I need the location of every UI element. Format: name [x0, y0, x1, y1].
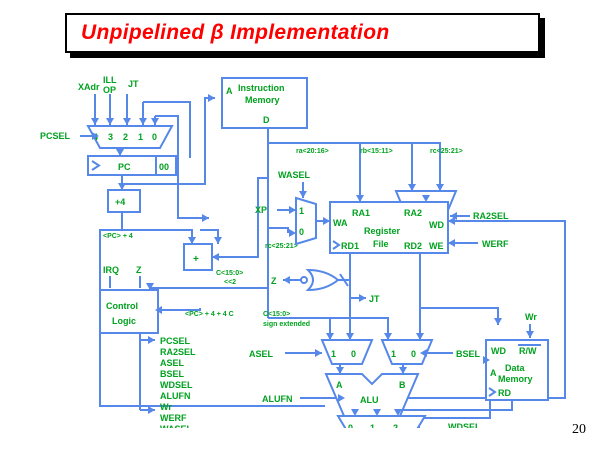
alu-label: ALU: [360, 395, 379, 405]
asel-label: ASEL: [249, 349, 274, 359]
pc-register: PC 00: [88, 156, 176, 175]
jt-label: JT: [369, 294, 380, 304]
rb-field-label: rb<15:11>: [360, 148, 393, 155]
dmem-port-rd: RD: [498, 388, 511, 398]
wasel-mux[interactable]: 1 0: [296, 198, 316, 244]
control-output-pcsel: PCSEL: [160, 336, 191, 346]
dmem-label-line2: Memory: [498, 374, 533, 384]
control-logic-label-line1: Control: [106, 301, 138, 311]
imem-port-a: A: [226, 86, 233, 96]
illop-label-line2: OP: [103, 85, 116, 95]
alu-port-a: A: [336, 380, 343, 390]
regfile-port-rd1: RD1: [341, 241, 359, 251]
control-output-bsel: BSEL: [160, 369, 185, 379]
pc-plus-4-label: <PC> + 4: [103, 233, 133, 240]
pcsel-label: PCSEL: [40, 131, 71, 141]
imem-label-line1: Instruction: [238, 83, 285, 93]
rc-field-mid-label: rc<25:21>: [265, 243, 298, 250]
ra2sel-label: RA2SEL: [473, 211, 509, 221]
xp-label: XP: [255, 205, 267, 215]
plus4-adder: +4: [108, 190, 140, 212]
register-file: WA RA1 RA2 WD RD1 RD2 WE Register File: [330, 202, 448, 253]
page-number: 20: [572, 422, 586, 438]
slide-title: Unpipelined β Implementation: [67, 21, 389, 45]
slide-canvas: Unpipelined β Implementation: [0, 0, 600, 450]
jt-top-label: JT: [128, 79, 139, 89]
dmem-port-rw: R/W: [519, 346, 537, 356]
irq-label: IRQ: [103, 265, 119, 275]
regfile-port-wd: WD: [429, 220, 444, 230]
control-logic: Control Logic: [100, 290, 158, 333]
control-output-werf: WERF: [160, 413, 187, 423]
pc-plus-4-4c-label: <PC> + 4 + 4 C: [185, 311, 234, 318]
c-sign-label-line2: sign extended: [263, 321, 310, 328]
dmem-port-a: A: [490, 368, 497, 378]
control-logic-label-line2: Logic: [112, 316, 136, 326]
rc-field-top-label: rc<25:21>: [430, 148, 463, 155]
werf-label: WERF: [482, 239, 509, 249]
c-shift-label-line2: <<2: [224, 279, 236, 286]
alufn-label: ALUFN: [262, 394, 293, 404]
c-shift-label-line1: C<15:0>: [216, 270, 243, 277]
asel-input-0: 0: [351, 349, 356, 359]
asel-input-1: 1: [331, 349, 336, 359]
alu-port-b: B: [399, 380, 406, 390]
pcsel-input-1: 1: [138, 132, 143, 142]
control-output-wasel: WASEL: [160, 424, 193, 428]
pc-label: PC: [118, 162, 131, 172]
pcsel-input-3: 3: [108, 132, 113, 142]
pcsel-input-0: 0: [152, 132, 157, 142]
wasel-input-0: 0: [299, 227, 304, 237]
ra-field-label: ra<20:16>: [296, 148, 329, 155]
z-input-label: Z: [136, 265, 142, 275]
regfile-port-ra2: RA2: [404, 208, 422, 218]
bsel-input-0: 0: [411, 349, 416, 359]
bsel-input-1: 1: [391, 349, 396, 359]
wasel-label: WASEL: [278, 170, 311, 180]
wdsel-label: WDSEL: [448, 422, 481, 428]
plus-label: +: [193, 254, 199, 265]
pcsel-mux[interactable]: 4 3 2 1 0: [88, 126, 172, 148]
control-output-alufn: ALUFN: [160, 391, 191, 401]
instruction-memory: A Instruction Memory D: [222, 78, 307, 128]
pc-low-bits: 00: [159, 162, 169, 172]
bsel-label: BSEL: [456, 349, 481, 359]
imem-port-d: D: [263, 115, 270, 125]
wr-label: Wr: [525, 312, 537, 322]
regfile-port-we: WE: [429, 241, 444, 251]
datapath-diagram: 4 3 2 1 0 PCSEL XAdr ILL OP JT PC 00 +4 …: [0, 58, 600, 428]
control-output-ra2sel: RA2SEL: [160, 347, 196, 357]
wdsel-input-1: 1: [370, 423, 375, 428]
control-output-wdsel: WDSEL: [160, 380, 193, 390]
title-box: Unpipelined β Implementation: [65, 13, 540, 53]
pcsel-input-2: 2: [123, 132, 128, 142]
control-logic-outputs: PCSEL RA2SEL ASEL BSEL WDSEL ALUFN Wr WE…: [160, 336, 196, 428]
illop-label-line1: ILL: [103, 75, 117, 85]
branch-adder: +: [184, 244, 212, 270]
wdsel-input-0: 0: [348, 423, 353, 428]
dmem-port-wd: WD: [491, 346, 506, 356]
c-sign-label-line1: C<15:0>: [263, 311, 290, 318]
xadr-label: XAdr: [78, 82, 100, 92]
wasel-input-1: 1: [299, 206, 304, 216]
imem-label-line2: Memory: [245, 95, 280, 105]
plus4-label: +4: [115, 197, 125, 207]
regfile-label-line2: File: [373, 239, 389, 249]
wdsel-input-2: 2: [393, 423, 398, 428]
control-output-wr: Wr: [160, 402, 172, 412]
dmem-label-line1: Data: [505, 363, 526, 373]
data-memory: WD R/W Data Memory A RD: [486, 340, 548, 400]
control-output-asel: ASEL: [160, 358, 185, 368]
wdsel-mux[interactable]: 0 1 2: [338, 416, 425, 428]
asel-mux[interactable]: 1 0: [322, 340, 372, 364]
regfile-port-ra1: RA1: [352, 208, 370, 218]
regfile-port-rd2: RD2: [404, 241, 422, 251]
z-output-label: Z: [271, 276, 277, 286]
regfile-label-line1: Register: [364, 226, 401, 236]
regfile-port-wa: WA: [333, 218, 348, 228]
